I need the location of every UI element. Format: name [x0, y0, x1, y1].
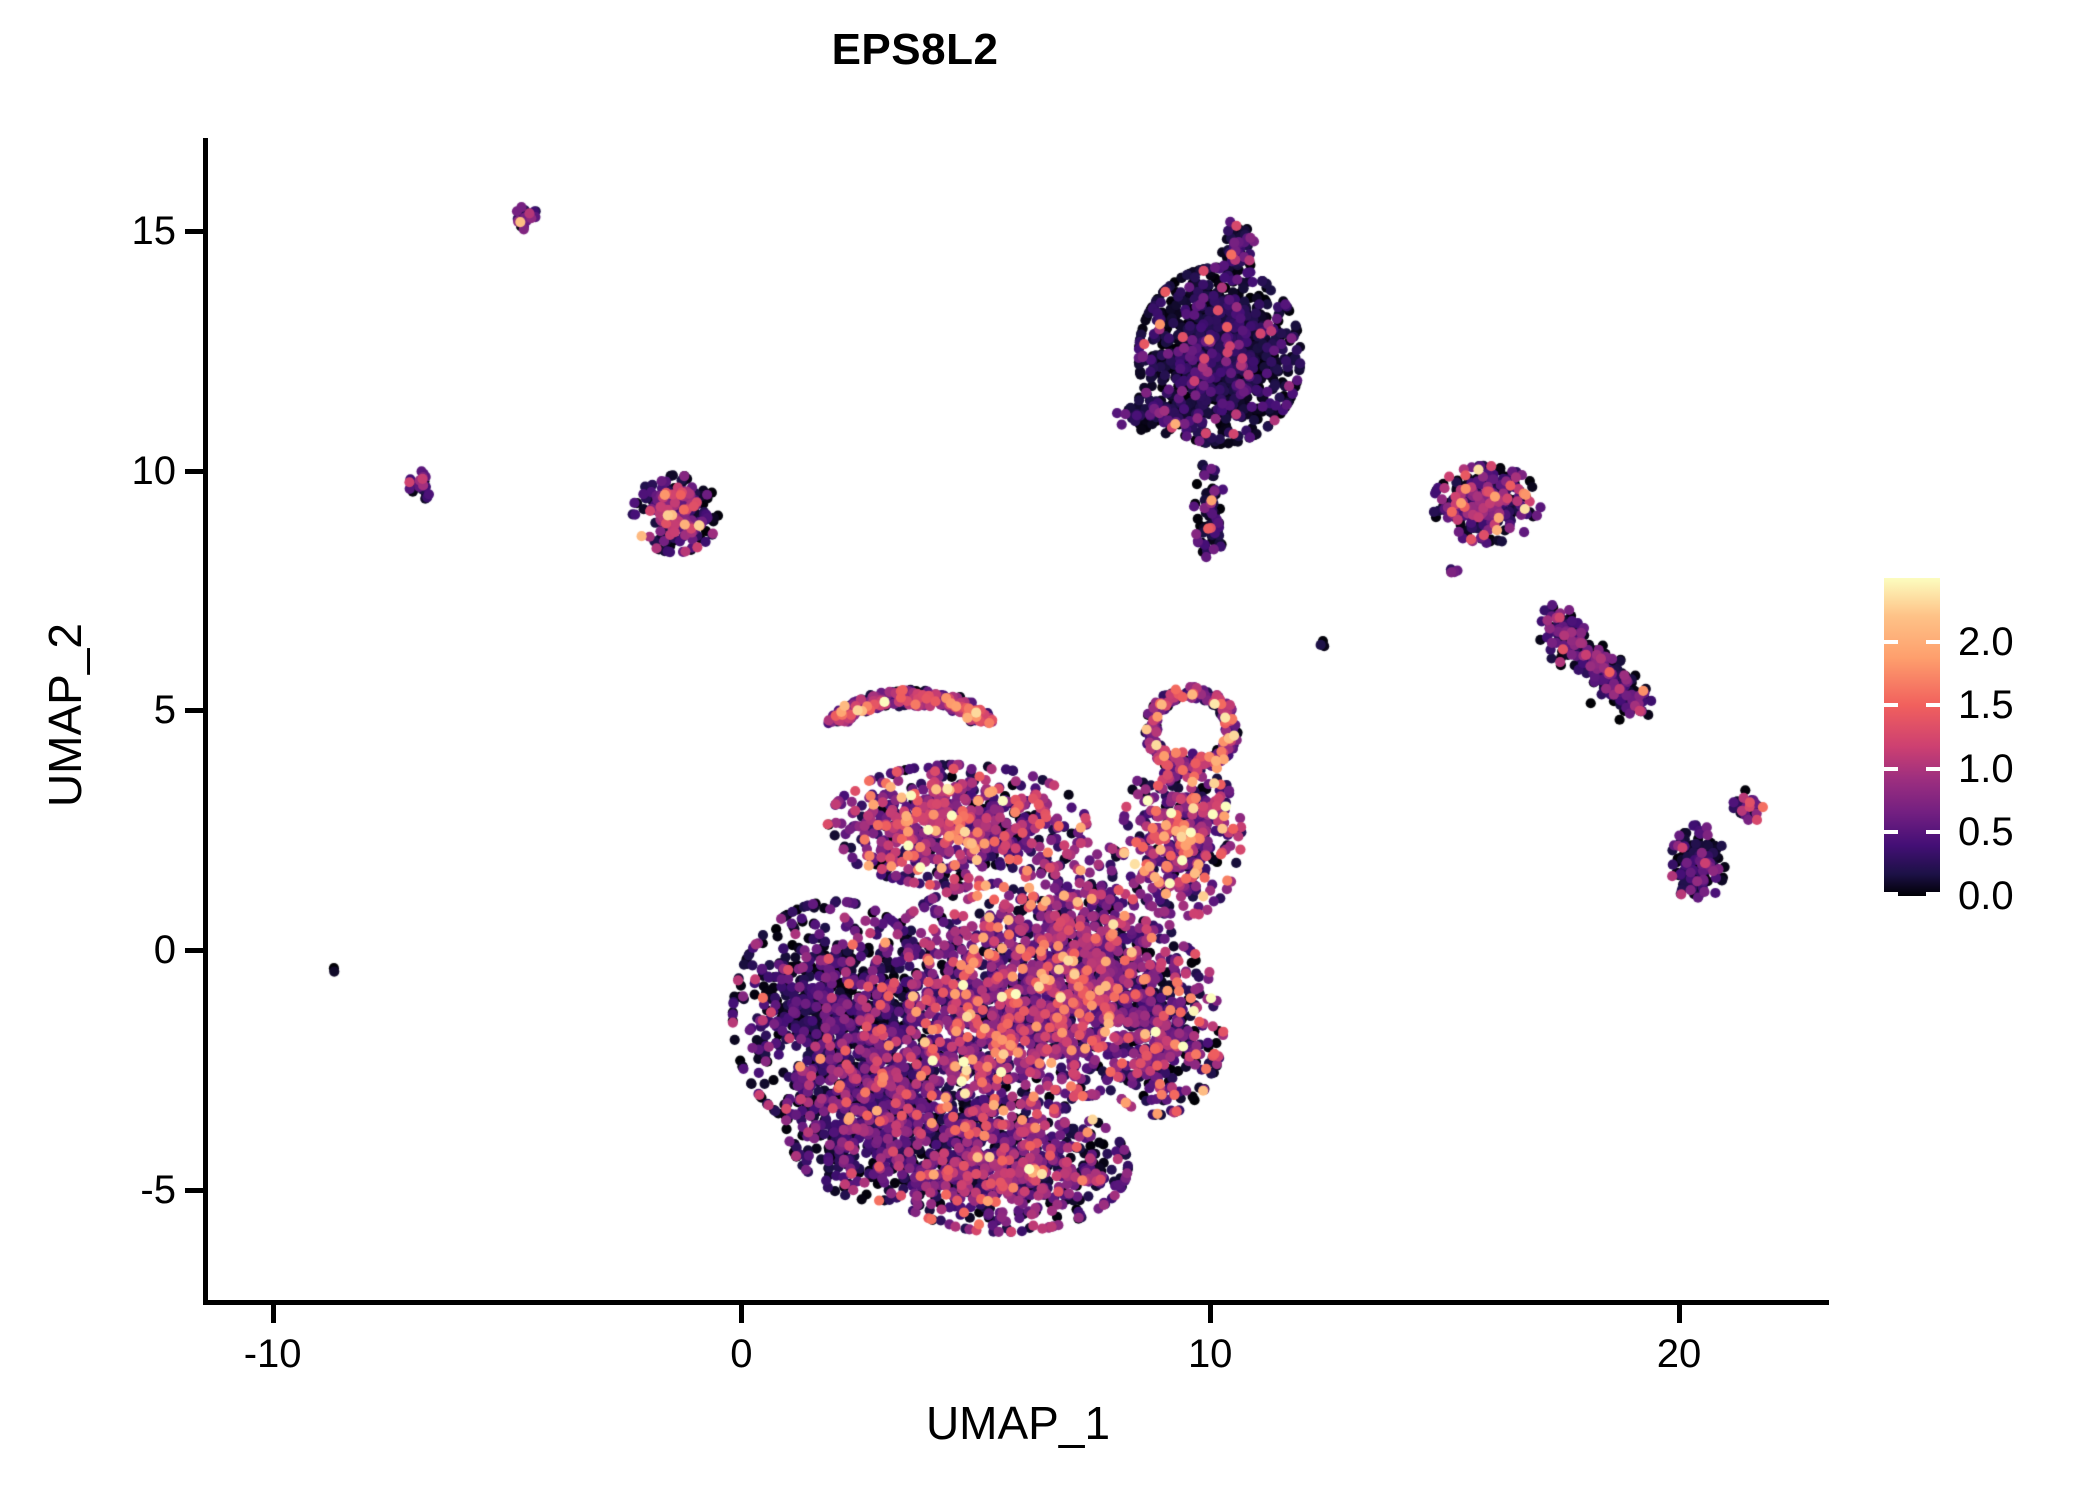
y-axis-tick: [185, 469, 203, 474]
colorbar-tick: [1884, 703, 1898, 707]
x-axis-tick: [271, 1305, 276, 1323]
x-axis-tick: [739, 1305, 744, 1323]
x-axis-tick: [1677, 1305, 1682, 1323]
colorbar-tick: [1926, 640, 1940, 644]
y-axis-line: [203, 138, 208, 1304]
colorbar-tick: [1884, 892, 1898, 896]
y-axis-tick-labels: 151050-5: [90, 0, 176, 1500]
colorbar-tick: [1884, 640, 1898, 644]
colorbar-gradient: [1884, 578, 1940, 896]
y-axis-tick: [185, 1188, 203, 1193]
page-title: EPS8L2: [0, 24, 1830, 76]
x-axis-line: [203, 1300, 1829, 1305]
colorbar-tick: [1884, 767, 1898, 771]
colorbar-tick-label: 0.5: [1958, 812, 2014, 852]
y-axis-tick-label: 5: [106, 690, 176, 730]
colorbar-legend[interactable]: 2.01.51.00.50.0: [1884, 578, 1940, 896]
colorbar-tick: [1926, 703, 1940, 707]
y-axis-tick: [185, 229, 203, 234]
colorbar-tick: [1884, 830, 1898, 834]
colorbar-tick-label: 2.0: [1958, 622, 2014, 662]
x-axis-tick: [1208, 1305, 1213, 1323]
y-axis-tick: [185, 948, 203, 953]
x-axis-tick-label: 10: [1140, 1334, 1280, 1374]
colorbar-tick: [1926, 830, 1940, 834]
colorbar-tick-label: 1.0: [1958, 749, 2014, 789]
x-axis-tick-label: 20: [1609, 1334, 1749, 1374]
scatter-plot-canvas[interactable]: [207, 140, 1829, 1300]
colorbar-tick: [1926, 767, 1940, 771]
x-axis-title: UMAP_1: [207, 1396, 1829, 1450]
x-axis-tick-label: 0: [671, 1334, 811, 1374]
y-axis-title: UMAP_2: [38, 335, 92, 1095]
y-axis-tick-label: 15: [106, 211, 176, 251]
y-axis-tick-label: -5: [106, 1170, 176, 1210]
colorbar-tick: [1926, 892, 1940, 896]
umap-feature-plot: EPS8L2 151050-5 -1001020 UMAP_1 UMAP_2 2…: [0, 0, 2100, 1500]
colorbar-tick-label: 1.5: [1958, 685, 2014, 725]
x-axis-tick-label: -10: [203, 1334, 343, 1374]
y-axis-tick-label: 0: [106, 930, 176, 970]
y-axis-tick: [185, 708, 203, 713]
colorbar-tick-label: 0.0: [1958, 876, 2014, 916]
y-axis-tick-label: 10: [106, 451, 176, 491]
